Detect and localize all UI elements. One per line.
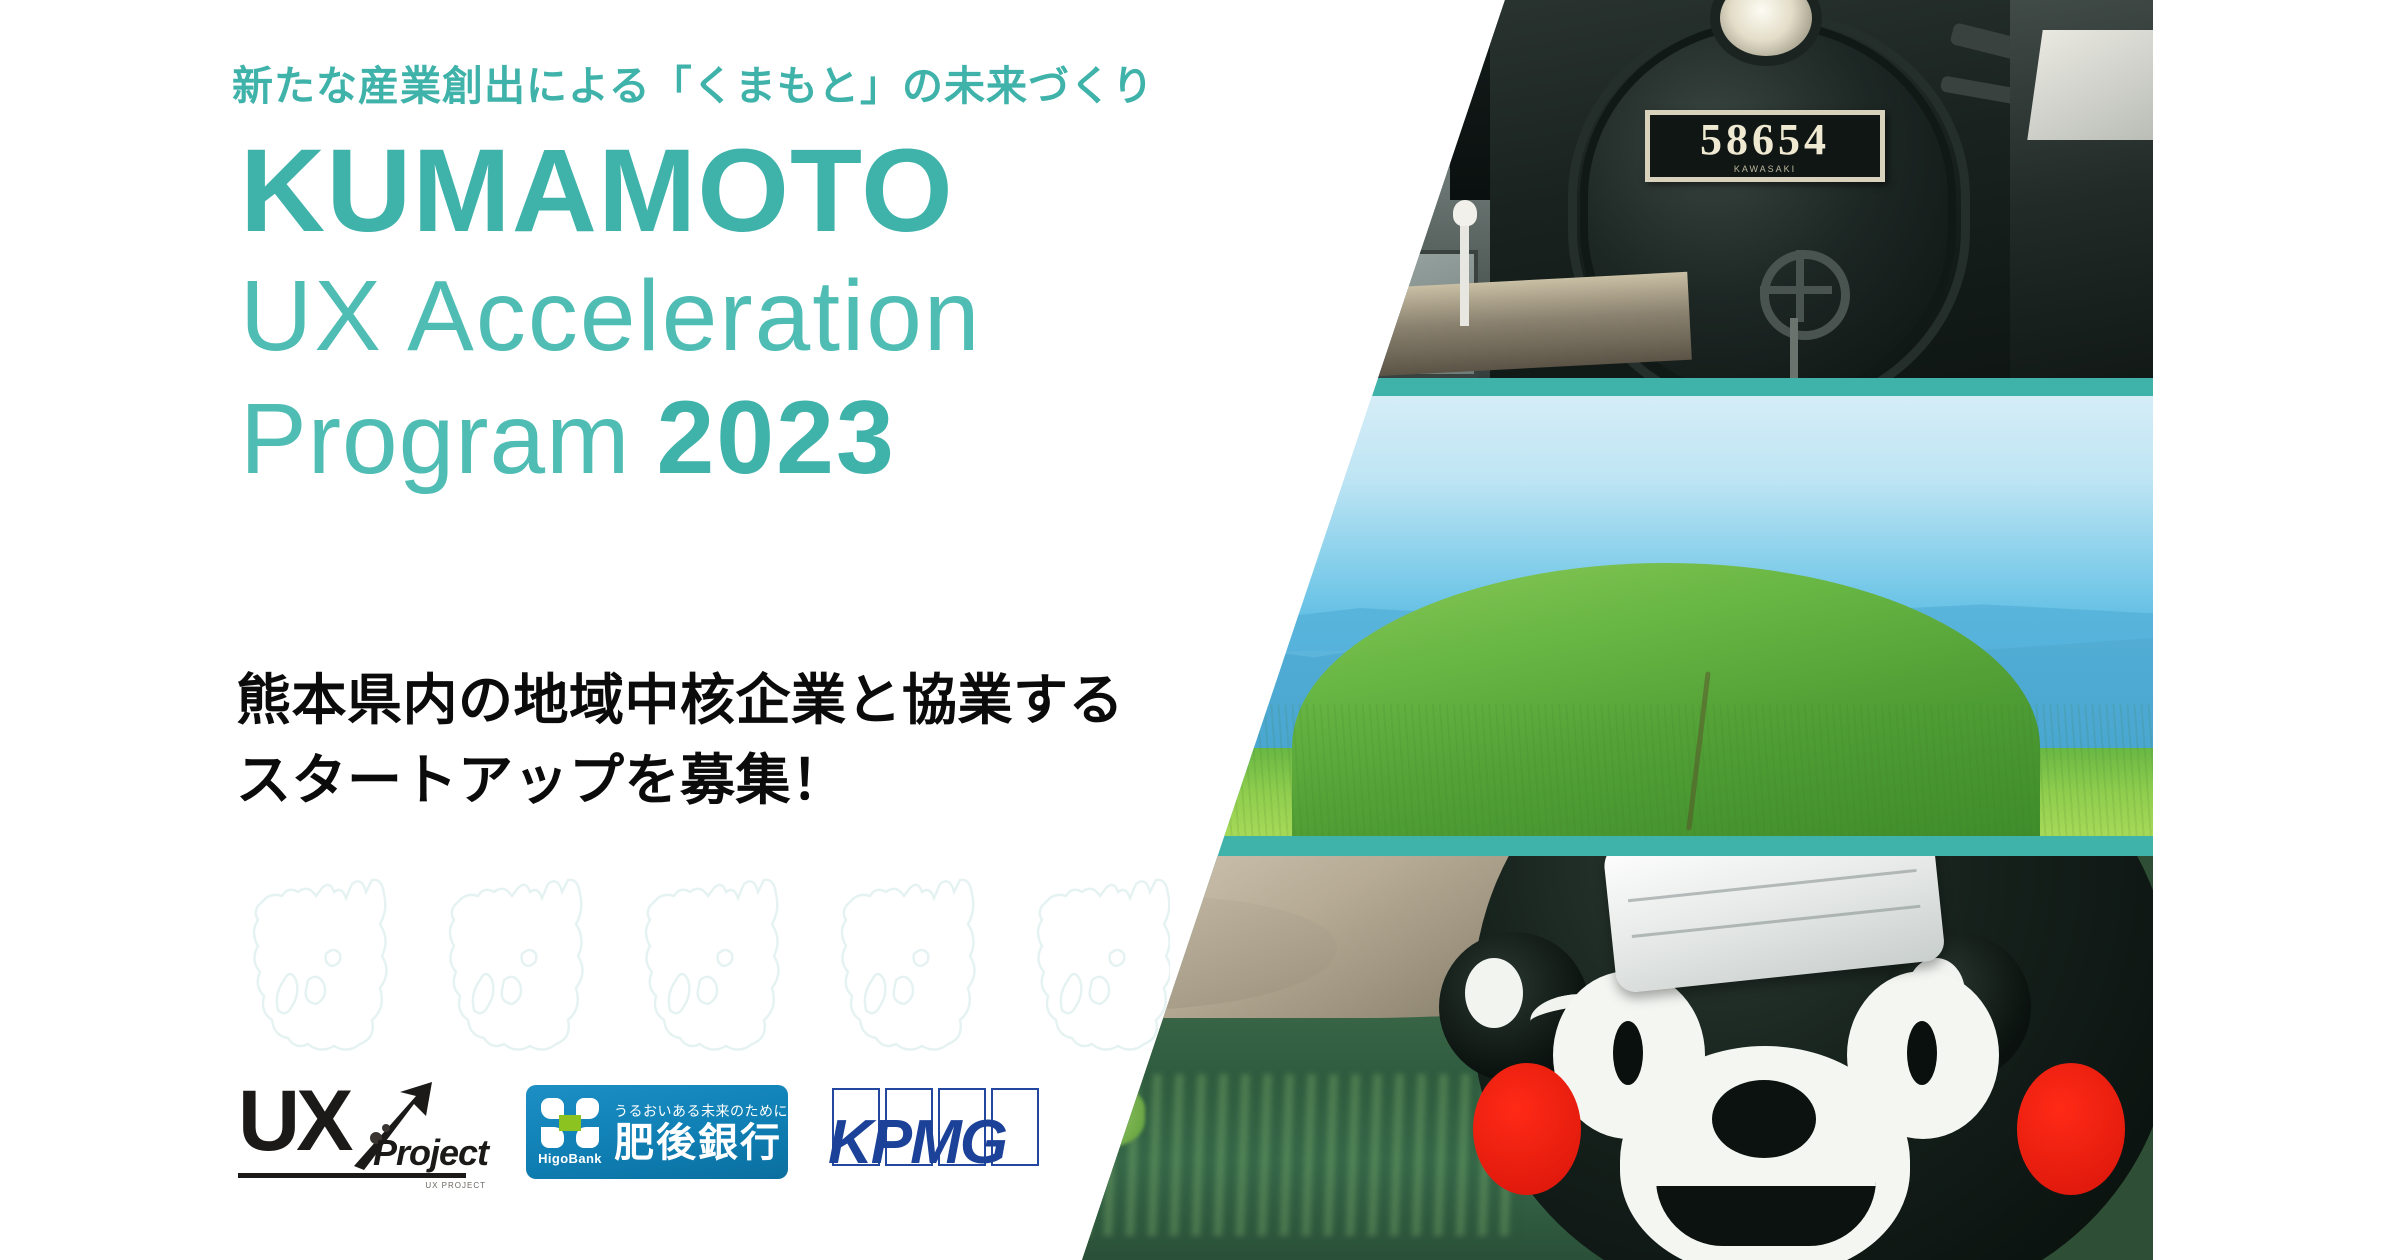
ux-project-logo: UX Project UX PROJECT bbox=[238, 1078, 486, 1186]
subtitle-line-1: 熊本県内の地域中核企業と協業する bbox=[236, 660, 1124, 740]
photo-divider-stripe-2 bbox=[1020, 836, 2153, 856]
kumamoto-map-icon bbox=[426, 862, 622, 1062]
kumamoto-map-icon bbox=[622, 862, 818, 1062]
page-title: KUMAMOTO UX Acceleration Program2023 bbox=[240, 128, 1240, 500]
title-year: 2023 bbox=[656, 380, 895, 496]
ux-project-rule bbox=[238, 1173, 466, 1178]
locomotive-handwheel-icon bbox=[1760, 250, 1850, 340]
locomotive-number-plate: 58654 KAWASAKI bbox=[1645, 110, 1885, 182]
locomotive-number-sub: KAWASAKI bbox=[1734, 164, 1796, 174]
kumamon-cheek-left bbox=[1473, 1063, 1581, 1195]
kumamoto-map-icon bbox=[230, 862, 426, 1062]
title-line-ux-acceleration: UX Acceleration bbox=[240, 260, 981, 372]
ux-project-word: Project bbox=[373, 1132, 488, 1174]
higo-bank-mark-icon: HigoBank bbox=[536, 1096, 604, 1168]
higo-bank-logo: HigoBank うるおいある未来のために。 肥後銀行 bbox=[526, 1085, 788, 1179]
kumamoto-ux-acceleration-banner: 人吉 58654 KAWASAKI bbox=[0, 0, 2400, 1260]
higo-bank-tagline: うるおいある未来のために。 bbox=[614, 1101, 803, 1121]
title-line-program: Program bbox=[240, 383, 630, 495]
title-line-kumamoto: KUMAMOTO bbox=[240, 125, 954, 257]
kumamoto-map-icon bbox=[1014, 862, 1170, 1062]
kumamon-onsen-photo bbox=[1020, 856, 2153, 1260]
ux-project-mark: UX bbox=[238, 1072, 349, 1171]
subtitle-line-2: スタートアップを募集！ bbox=[236, 740, 1124, 820]
subtitle: 熊本県内の地域中核企業と協業する スタートアップを募集！ bbox=[236, 660, 1124, 821]
kumamon-cheek-right bbox=[2017, 1063, 2125, 1195]
higo-bank-name: 肥後銀行 bbox=[614, 1123, 803, 1163]
tagline: 新たな産業創出による「くまもと」の未来づくり bbox=[232, 52, 1154, 112]
kpmg-wordmark: KPMG bbox=[828, 1112, 1006, 1174]
locomotive-number: 58654 bbox=[1700, 118, 1830, 162]
higo-bank-mark-label: HigoBank bbox=[538, 1151, 602, 1166]
kpmg-logo: KPMG bbox=[828, 1084, 1040, 1180]
ux-project-microtext: UX PROJECT bbox=[425, 1181, 486, 1190]
text-content-area: 新たな産業創出による「くまもと」の未来づくり KUMAMOTO UX Accel… bbox=[0, 0, 1120, 1260]
kumamoto-map-icon bbox=[818, 862, 1014, 1062]
kumamoto-map-outline-pattern bbox=[230, 862, 1170, 1062]
sponsor-logo-row: UX Project UX PROJECT bbox=[238, 1078, 1040, 1186]
